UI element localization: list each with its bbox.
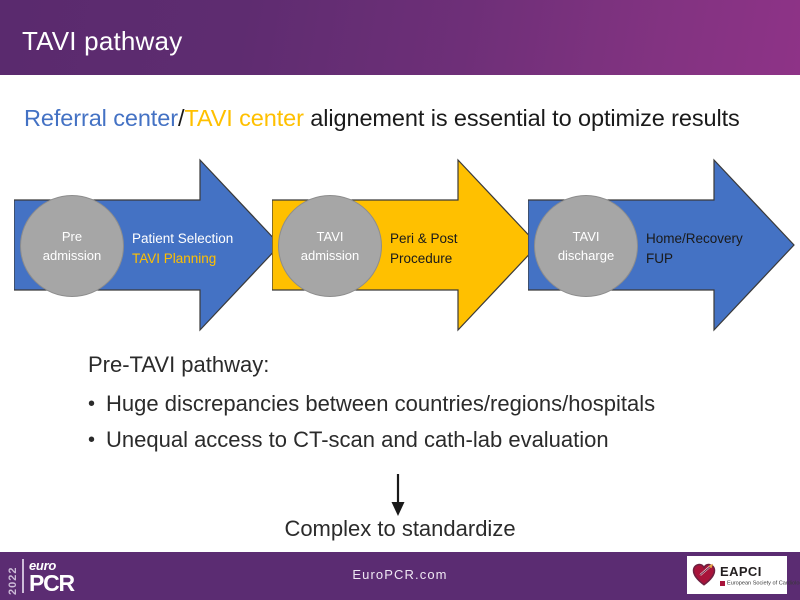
list-item-label: Huge discrepancies between countries/reg… <box>106 390 655 418</box>
stage-circle-line2: admission <box>301 246 360 265</box>
stage-circle-line1: TAVI <box>573 227 600 246</box>
bullet-icon: • <box>88 390 106 418</box>
stage-circle-tavi-discharge: TAVI discharge <box>534 195 638 297</box>
eapci-text-block: EAPCI European Society of Cardiology <box>720 565 778 586</box>
stage-label-line2: TAVI Planning <box>132 249 262 269</box>
stage-circle-pre-admission: Pre admission <box>20 195 124 297</box>
conclusion-text: Complex to standardize <box>0 516 800 542</box>
stage-circle-line1: Pre <box>62 227 82 246</box>
stage-circle-line2: discharge <box>558 246 614 265</box>
esc-square-icon <box>720 581 725 586</box>
stage-label-pre-admission: Patient Selection TAVI Planning <box>132 229 262 269</box>
body-text-block: Pre-TAVI pathway: • Huge discrepancies b… <box>88 352 768 462</box>
footer-website-label: EuroPCR.com <box>0 567 800 582</box>
list-item-label: Unequal access to CT-scan and cath-lab e… <box>106 426 609 454</box>
stage-circle-line1: TAVI <box>317 227 344 246</box>
stage-circle-tavi-admission: TAVI admission <box>278 195 382 297</box>
list-item: • Huge discrepancies between countries/r… <box>88 390 768 418</box>
eapci-logo: EAPCI European Society of Cardiology <box>687 556 787 594</box>
stage-label-line2: FUP <box>646 249 776 269</box>
slide: TAVI pathway Referral center/TAVI center… <box>0 0 800 600</box>
pathway-diagram: Pre admission Patient Selection TAVI Pla… <box>0 155 800 335</box>
subtitle-line: Referral center/TAVI center alignement i… <box>24 105 784 132</box>
page-title: TAVI pathway <box>22 26 182 57</box>
stage-circle-line2: admission <box>43 246 102 265</box>
subtitle-remainder: alignement is essential to optimize resu… <box>304 105 740 131</box>
eapci-name: EAPCI <box>720 565 778 579</box>
stage-label-line1: Patient Selection <box>132 229 262 249</box>
stage-label-tavi-admission: Peri & Post Procedure <box>390 229 520 269</box>
eapci-society-label: European Society of Cardiology <box>727 579 800 587</box>
pathway-stage-tavi-discharge: TAVI discharge Home/Recovery FUP <box>528 155 800 335</box>
bullet-icon: • <box>88 426 106 454</box>
stage-label-line1: Peri & Post <box>390 229 520 249</box>
down-arrow-icon <box>386 474 410 516</box>
heart-with-arrow-icon <box>692 563 716 587</box>
body-heading: Pre-TAVI pathway: <box>88 352 768 378</box>
eapci-society-row: European Society of Cardiology <box>720 581 778 586</box>
stage-label-line1: Home/Recovery <box>646 229 776 249</box>
list-item: • Unequal access to CT-scan and cath-lab… <box>88 426 768 454</box>
subtitle-tavi-center: TAVI center <box>184 105 304 131</box>
pathway-stage-tavi-admission: TAVI admission Peri & Post Procedure <box>272 155 544 335</box>
pathway-stage-pre-admission: Pre admission Patient Selection TAVI Pla… <box>14 155 286 335</box>
stage-label-line2: Procedure <box>390 249 520 269</box>
subtitle-referral-center: Referral center <box>24 105 178 131</box>
stage-label-tavi-discharge: Home/Recovery FUP <box>646 229 776 269</box>
